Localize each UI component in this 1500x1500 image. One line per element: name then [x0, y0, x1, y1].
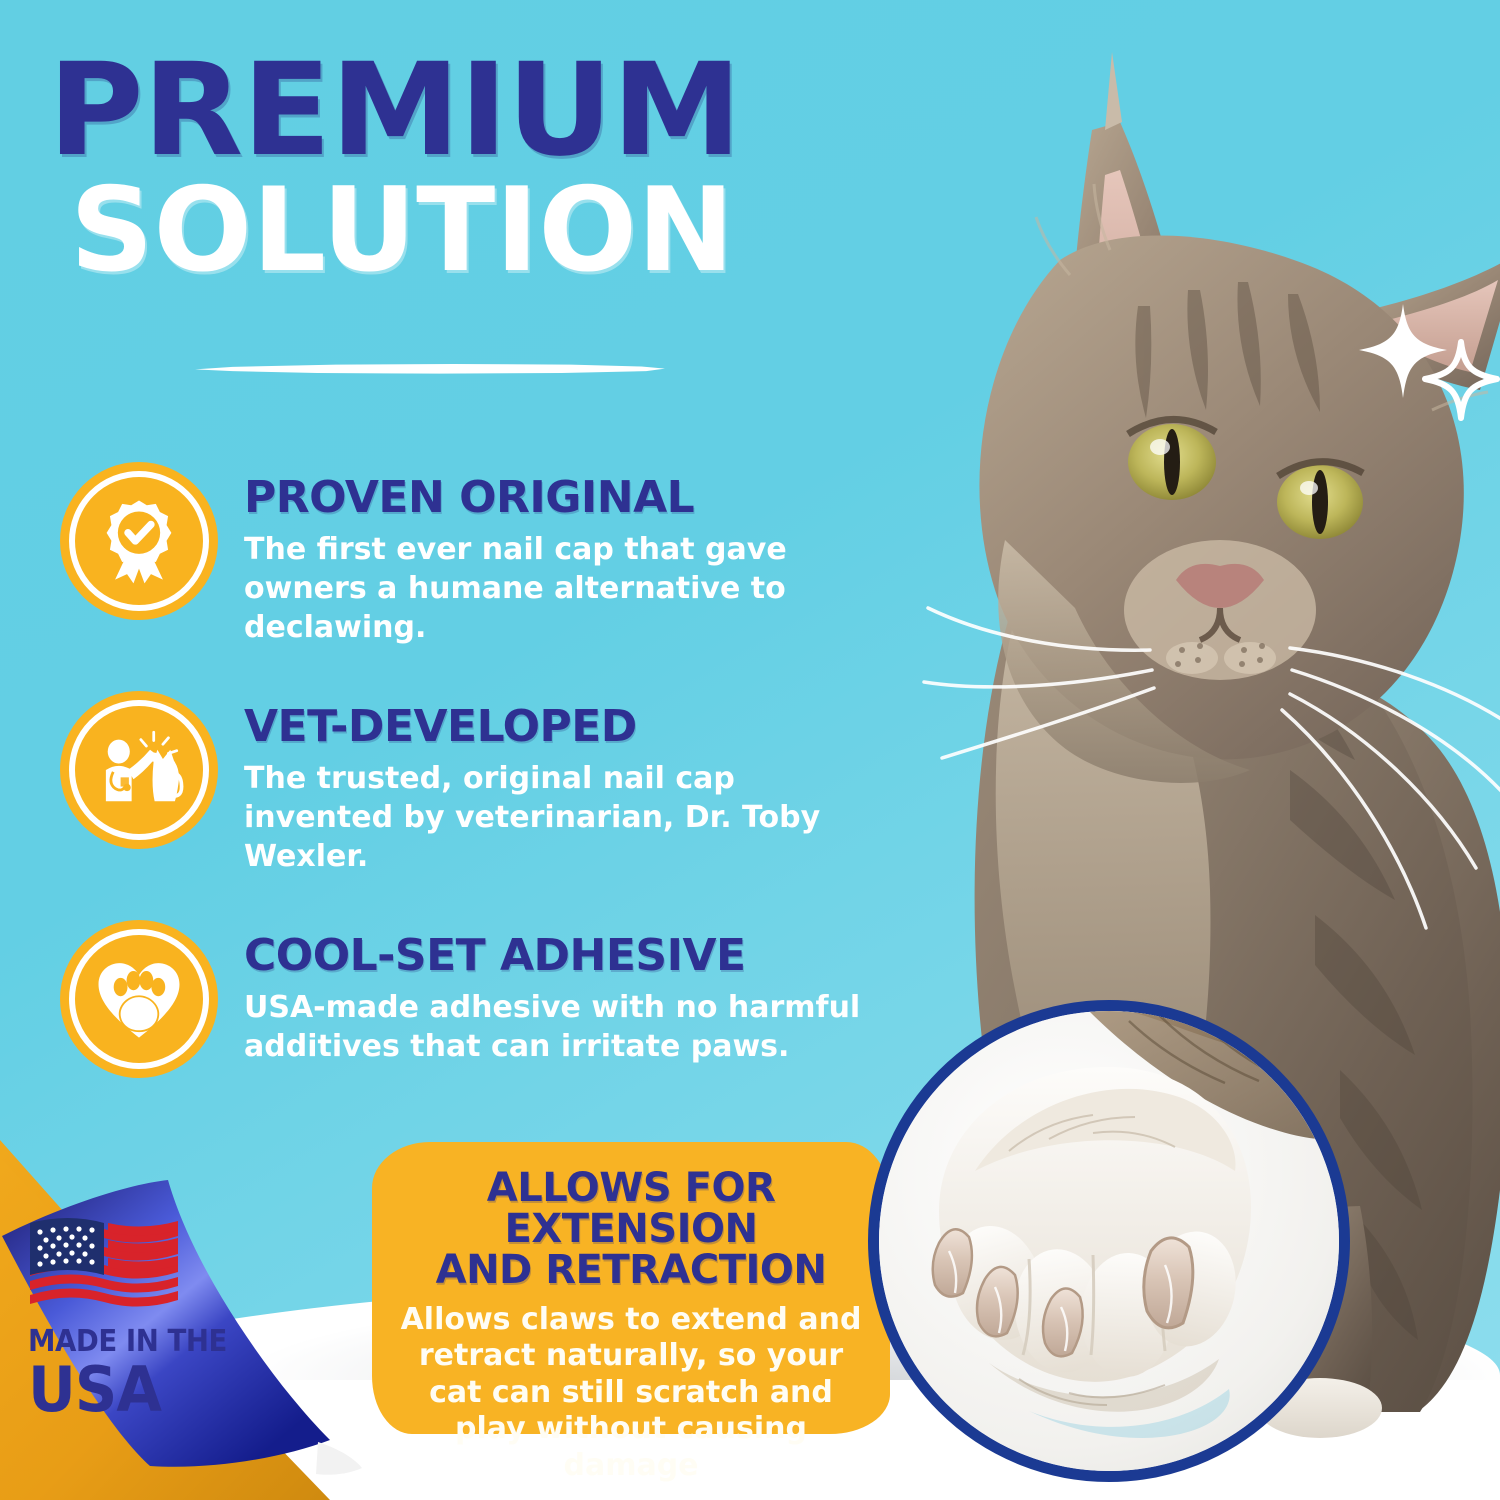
callout-title-line-2: AND RETRACTION: [396, 1250, 866, 1291]
sparkle-group: [1355, 300, 1500, 430]
page-title: PREMIUM SOLUTION: [48, 52, 888, 286]
feature-title: VET-DEVELOPED: [244, 705, 864, 749]
callout-title-line-1: ALLOWS FOR EXTENSION: [396, 1168, 866, 1250]
feature-item-vet-developed: VET-DEVELOPED The trusted, original nail…: [60, 691, 870, 876]
lens-divider: [195, 360, 665, 378]
feature-item-cool-set-adhesive: COOL-SET ADHESIVE USA-made adhesive with…: [60, 920, 870, 1078]
feature-body: USA-made adhesive with no harmful additi…: [244, 988, 864, 1066]
feature-body: The first ever nail cap that gave owners…: [244, 530, 864, 647]
heart-paw-icon: [60, 920, 218, 1078]
callout-title: ALLOWS FOR EXTENSION AND RETRACTION: [396, 1168, 866, 1292]
feature-title: PROVEN ORIGINAL: [244, 476, 864, 520]
made-in-usa-badge: MADE IN THE USA: [28, 1215, 258, 1422]
us-flag-icon: [28, 1215, 180, 1311]
callout-body: Allows claws to extend and retract natur…: [396, 1302, 866, 1485]
extension-retraction-callout: ALLOWS FOR EXTENSION AND RETRACTION Allo…: [372, 1142, 890, 1434]
feature-list: PROVEN ORIGINAL The first ever nail cap …: [60, 462, 870, 1078]
made-in-usa-line-2: USA: [28, 1357, 247, 1422]
headline-line-1: PREMIUM: [48, 52, 905, 170]
headline-line-2: SOLUTION: [70, 176, 888, 286]
feature-body: The trusted, original nail cap invented …: [244, 759, 864, 876]
sparkle-outline-icon: [1425, 342, 1497, 418]
feature-title: COOL-SET ADHESIVE: [244, 934, 864, 978]
cat-paw-with-nail-caps-photo: [868, 1000, 1350, 1482]
vet-highfive-cat-icon: [60, 691, 218, 849]
product-infographic-poster: PREMIUM SOLUTION PROVEN ORIGINAL The fir…: [0, 0, 1500, 1500]
award-ribbon-icon: [60, 462, 218, 620]
feature-item-proven-original: PROVEN ORIGINAL The first ever nail cap …: [60, 462, 870, 647]
